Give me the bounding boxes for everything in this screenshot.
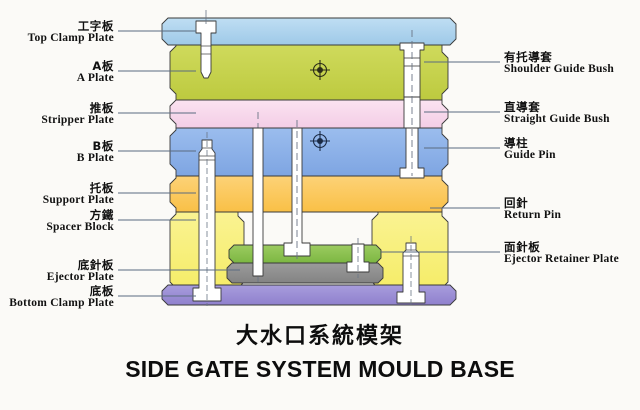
label-b-plate: B板 B Plate — [0, 140, 114, 165]
label-en: A Plate — [0, 72, 114, 84]
label-cn: B板 — [0, 140, 114, 152]
label-cn: 托板 — [0, 182, 114, 194]
label-cn: 底針板 — [0, 259, 114, 271]
label-shoulder-guide-bush: 有托導套 Shoulder Guide Bush — [504, 51, 614, 76]
label-cn: 工字板 — [0, 20, 114, 32]
label-spacer-block: 方鐵 Spacer Block — [0, 209, 114, 234]
diagram-title: 大水口系統模架 SIDE GATE SYSTEM MOULD BASE — [0, 318, 640, 383]
label-straight-guide-bush: 直導套 Straight Guide Bush — [504, 101, 610, 126]
label-en: Ejector Plate — [0, 271, 114, 283]
label-en: Ejector Retainer Plate — [504, 253, 619, 265]
label-guide-pin: 導柱 Guide Pin — [504, 137, 556, 162]
label-return-pin: 回針 Return Pin — [504, 197, 561, 222]
label-cn: 推板 — [0, 102, 114, 114]
title-cn: 大水口系統模架 — [0, 318, 640, 350]
label-stripper-plate: 推板 Stripper Plate — [0, 102, 114, 127]
title-en: SIDE GATE SYSTEM MOULD BASE — [0, 356, 640, 383]
label-cn: 直導套 — [504, 101, 610, 113]
label-cn: A板 — [0, 60, 114, 72]
label-en: Support Plate — [0, 194, 114, 206]
label-cn: 底板 — [0, 285, 114, 297]
label-a-plate: A板 A Plate — [0, 60, 114, 85]
label-top-clamp-plate: 工字板 Top Clamp Plate — [0, 20, 114, 45]
label-cn: 方鐵 — [0, 209, 114, 221]
label-en: Top Clamp Plate — [0, 32, 114, 44]
label-cn: 回針 — [504, 197, 561, 209]
label-bottom-clamp-plate: 底板 Bottom Clamp Plate — [0, 285, 114, 310]
label-support-plate: 托板 Support Plate — [0, 182, 114, 207]
label-cn: 面針板 — [504, 241, 619, 253]
label-en: B Plate — [0, 152, 114, 164]
label-cn: 導柱 — [504, 137, 556, 149]
label-en: Spacer Block — [0, 221, 114, 233]
label-en: Return Pin — [504, 209, 561, 221]
label-cn: 有托導套 — [504, 51, 614, 63]
label-en: Shoulder Guide Bush — [504, 63, 614, 75]
label-en: Stripper Plate — [0, 114, 114, 126]
label-ejector-retainer-plate: 面針板 Ejector Retainer Plate — [504, 241, 619, 266]
ejector-pin-secondary — [253, 128, 263, 276]
label-en: Straight Guide Bush — [504, 113, 610, 125]
label-en: Guide Pin — [504, 149, 556, 161]
label-ejector-plate: 底針板 Ejector Plate — [0, 259, 114, 284]
label-en: Bottom Clamp Plate — [0, 297, 114, 309]
